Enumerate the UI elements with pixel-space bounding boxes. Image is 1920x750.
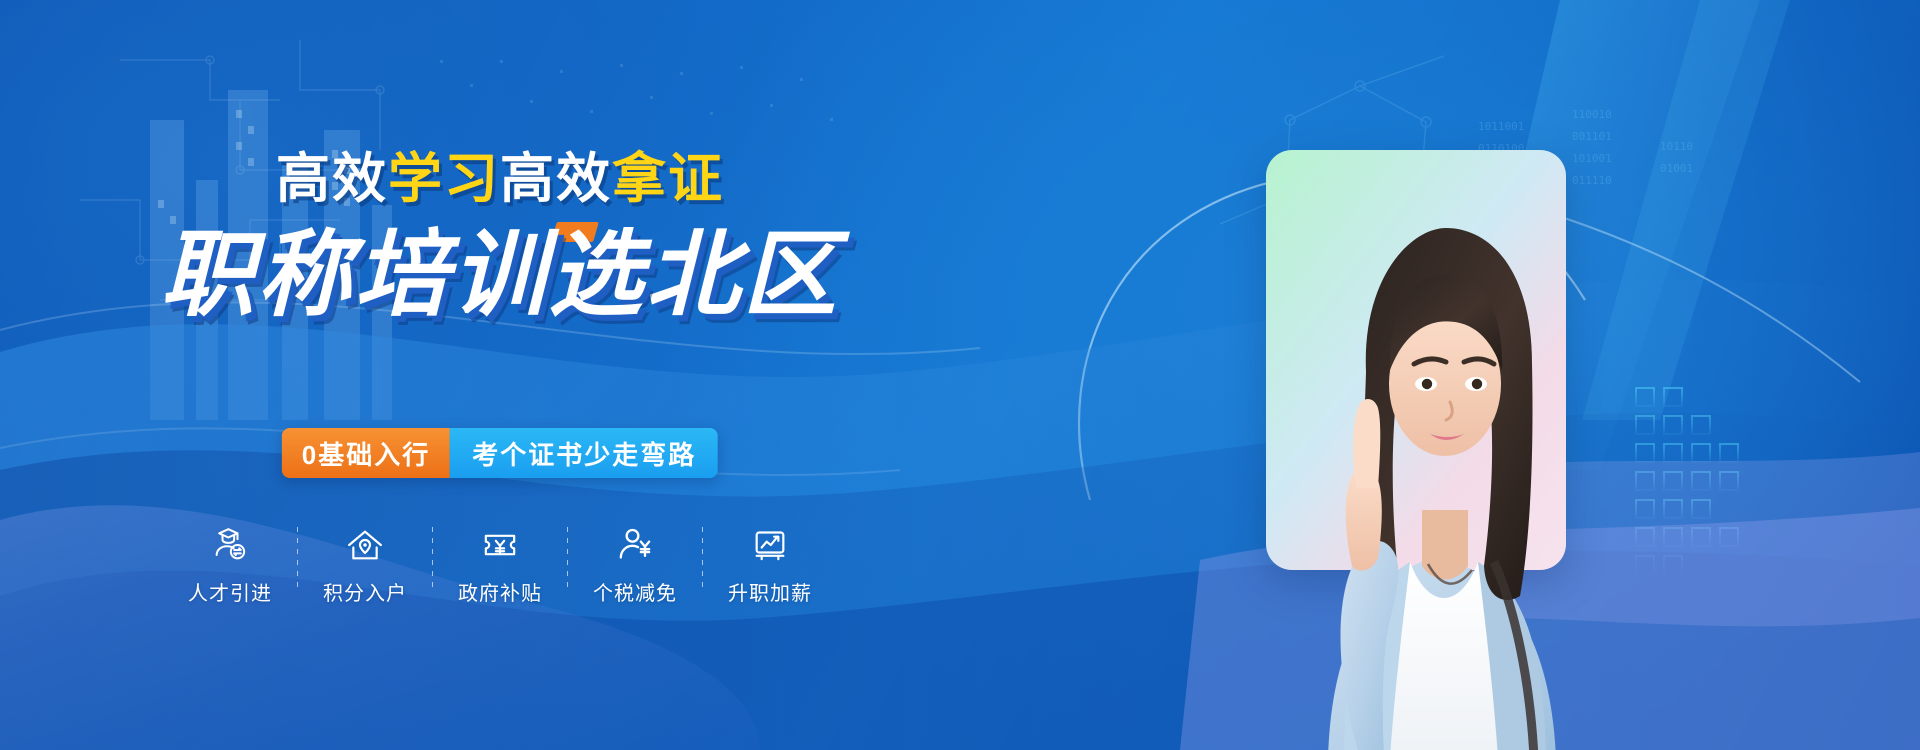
feature-label: 积分入户 [323, 577, 407, 606]
house-pin-icon [345, 525, 385, 565]
copy-block: 高效学习高效拿证 职称培训选北区 0基础入行 考个证书少走弯路 [0, 0, 1000, 750]
feature-item-government-subsidy[interactable]: 政府补贴 [433, 525, 567, 606]
feature-list: 人才引进 积分入户 政府补 [0, 525, 1000, 606]
feature-item-points-residency[interactable]: 积分入户 [298, 525, 432, 606]
person-yuan-icon [615, 525, 655, 565]
instructor-photo [1232, 158, 1652, 750]
kicker-highlight-2: 拿证 [612, 149, 724, 209]
badge-right-label: 考个证书少走弯路 [450, 428, 718, 478]
feature-item-promotion-raise[interactable]: 升职加薪 [703, 525, 837, 606]
hero-photo [1232, 150, 1652, 750]
headline-part-2: 北区 [646, 222, 840, 327]
kicker-part-2: 高效 [500, 149, 612, 209]
kicker-line: 高效学习高效拿证 [0, 152, 1000, 206]
graduate-person-icon [210, 525, 250, 565]
badge-left-label: 0基础入行 [282, 428, 450, 478]
feature-item-talent-intro[interactable]: 人才引进 [163, 525, 297, 606]
kicker-highlight-1: 学习 [388, 149, 500, 209]
tagline-badge: 0基础入行 考个证书少走弯路 [282, 428, 718, 478]
ticket-yuan-icon [480, 525, 520, 565]
promo-banner: 10110010110100 10011100101011 1100100011… [0, 0, 1920, 750]
feature-label: 个税减免 [593, 577, 677, 606]
headline-marked-char: 选 [548, 228, 645, 322]
page-title: 职称培训选北区 [0, 228, 1000, 322]
svg-text:1011001: 1011001 [1478, 120, 1524, 133]
svg-text:01001: 01001 [1660, 162, 1693, 175]
feature-label: 政府补贴 [458, 577, 542, 606]
kicker-part-1: 高效 [276, 149, 388, 209]
instructor-illustration [1232, 158, 1652, 750]
svg-text:10110: 10110 [1660, 140, 1693, 153]
feature-item-tax-reduction[interactable]: 个税减免 [568, 525, 702, 606]
svg-text:001101: 001101 [1572, 130, 1612, 143]
svg-text:110010: 110010 [1572, 108, 1612, 121]
feature-label: 人才引进 [188, 577, 272, 606]
chart-board-icon [750, 525, 790, 565]
headline-part-1: 职称培训 [160, 222, 548, 327]
feature-label: 升职加薪 [728, 577, 812, 606]
